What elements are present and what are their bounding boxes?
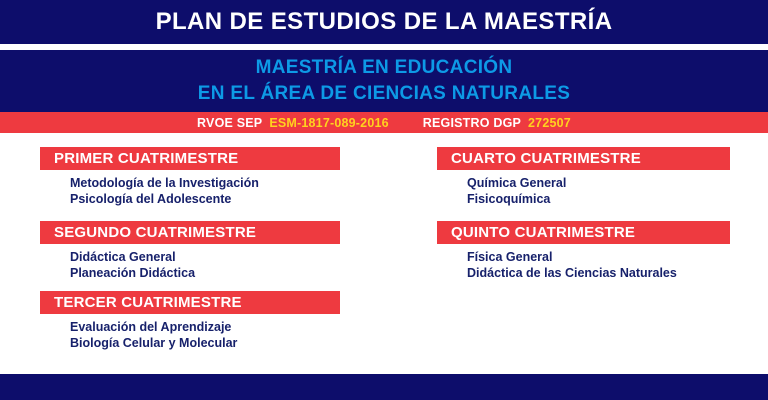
- program-name-line-1: MAESTRÍA EN EDUCACIÓN: [256, 55, 513, 81]
- course-list-segundo: Didáctica General Planeación Didáctica: [40, 244, 340, 281]
- registro-group: REGISTRO DGP 272507: [423, 116, 571, 130]
- rvoe-label: RVOE SEP: [197, 116, 262, 130]
- term-header-label: TERCER CUATRIMESTRE: [54, 294, 242, 311]
- page-title: PLAN DE ESTUDIOS DE LA MAESTRÍA: [156, 8, 613, 36]
- term-header-primer: PRIMER CUATRIMESTRE: [40, 147, 340, 170]
- registro-label: REGISTRO DGP: [423, 116, 521, 130]
- title-band: PLAN DE ESTUDIOS DE LA MAESTRÍA: [0, 0, 768, 44]
- list-item: Psicología del Adolescente: [70, 191, 340, 207]
- term-header-label: SEGUNDO CUATRIMESTRE: [54, 224, 256, 241]
- term-header-label: PRIMER CUATRIMESTRE: [54, 150, 238, 167]
- term-header-label: CUARTO CUATRIMESTRE: [451, 150, 641, 167]
- term-header-label: QUINTO CUATRIMESTRE: [451, 224, 635, 241]
- term-header-quinto: QUINTO CUATRIMESTRE: [437, 221, 730, 244]
- list-item: Metodología de la Investigación: [70, 175, 340, 191]
- course-list-primer: Metodología de la Investigación Psicolog…: [40, 170, 340, 207]
- term-header-tercer: TERCER CUATRIMESTRE: [40, 291, 340, 314]
- term-block-primer: PRIMER CUATRIMESTRE Metodología de la In…: [40, 147, 340, 207]
- list-item: Física General: [467, 249, 730, 265]
- rvoe-value: ESM-1817-089-2016: [269, 116, 388, 130]
- term-header-segundo: SEGUNDO CUATRIMESTRE: [40, 221, 340, 244]
- course-list-cuarto: Química General Fisicoquímica: [437, 170, 730, 207]
- course-list-quinto: Física General Didáctica de las Ciencias…: [437, 244, 730, 281]
- registro-value: 272507: [528, 116, 571, 130]
- term-block-tercer: TERCER CUATRIMESTRE Evaluación del Apren…: [40, 291, 340, 351]
- subtitle-band: MAESTRÍA EN EDUCACIÓN EN EL ÁREA DE CIEN…: [0, 50, 768, 112]
- course-list-tercer: Evaluación del Aprendizaje Biología Celu…: [40, 314, 340, 351]
- curriculum-content: PRIMER CUATRIMESTRE Metodología de la In…: [0, 133, 768, 374]
- list-item: Didáctica General: [70, 249, 340, 265]
- term-block-quinto: QUINTO CUATRIMESTRE Física General Didác…: [437, 221, 730, 281]
- footer-band: [0, 374, 768, 400]
- accreditation-bar: RVOE SEP ESM-1817-089-2016 REGISTRO DGP …: [0, 112, 768, 133]
- term-header-cuarto: CUARTO CUATRIMESTRE: [437, 147, 730, 170]
- list-item: Química General: [467, 175, 730, 191]
- term-block-segundo: SEGUNDO CUATRIMESTRE Didáctica General P…: [40, 221, 340, 281]
- list-item: Didáctica de las Ciencias Naturales: [467, 265, 730, 281]
- list-item: Evaluación del Aprendizaje: [70, 319, 340, 335]
- program-name-line-2: EN EL ÁREA DE CIENCIAS NATURALES: [198, 81, 570, 107]
- rvoe-group: RVOE SEP ESM-1817-089-2016: [197, 116, 389, 130]
- term-block-cuarto: CUARTO CUATRIMESTRE Química General Fisi…: [437, 147, 730, 207]
- list-item: Fisicoquímica: [467, 191, 730, 207]
- list-item: Planeación Didáctica: [70, 265, 340, 281]
- list-item: Biología Celular y Molecular: [70, 335, 340, 351]
